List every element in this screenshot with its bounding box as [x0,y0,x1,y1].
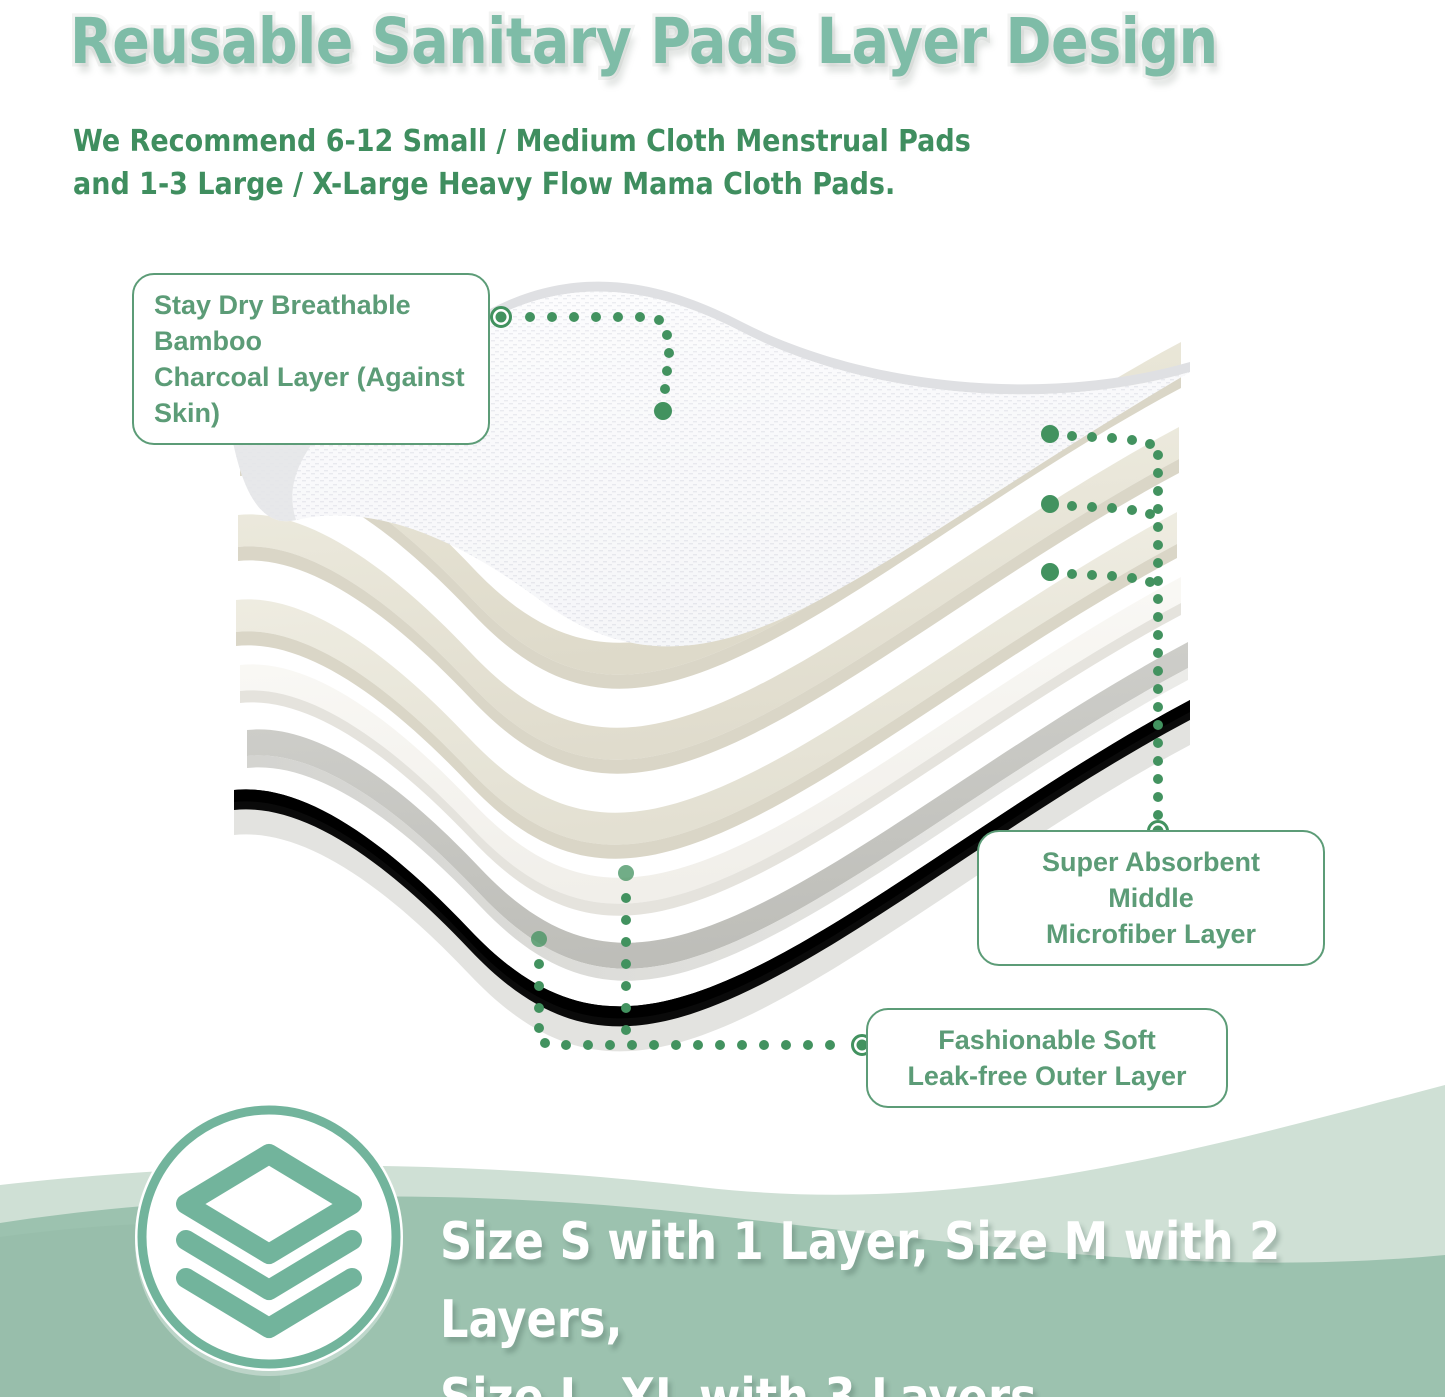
page-subtitle: We Recommend 6-12 Small / Medium Cloth M… [73,120,971,206]
connector-bottom-callout [531,865,872,1055]
page-title: Reusable Sanitary Pads Layer Design [70,6,1218,78]
callout-super-absorbent-microfiber-layer: Super Absorbent Middle Microfiber Layer [977,830,1325,966]
connector-top-callout [492,308,675,421]
footer-banner-text: Size S with 1 Layer, Size M with 2 Layer… [440,1203,1300,1397]
infographic-root: Reusable Sanitary Pads Layer Design We R… [0,0,1445,1397]
layer-microfiber-3 [236,512,1177,859]
layers-badge [124,1092,414,1382]
layer-microfiber-2 [238,427,1179,774]
connector-middle-callout [1041,425,1168,841]
callout-bamboo-charcoal-layer: Stay Dry Breathable Bamboo Charcoal Laye… [132,273,490,445]
